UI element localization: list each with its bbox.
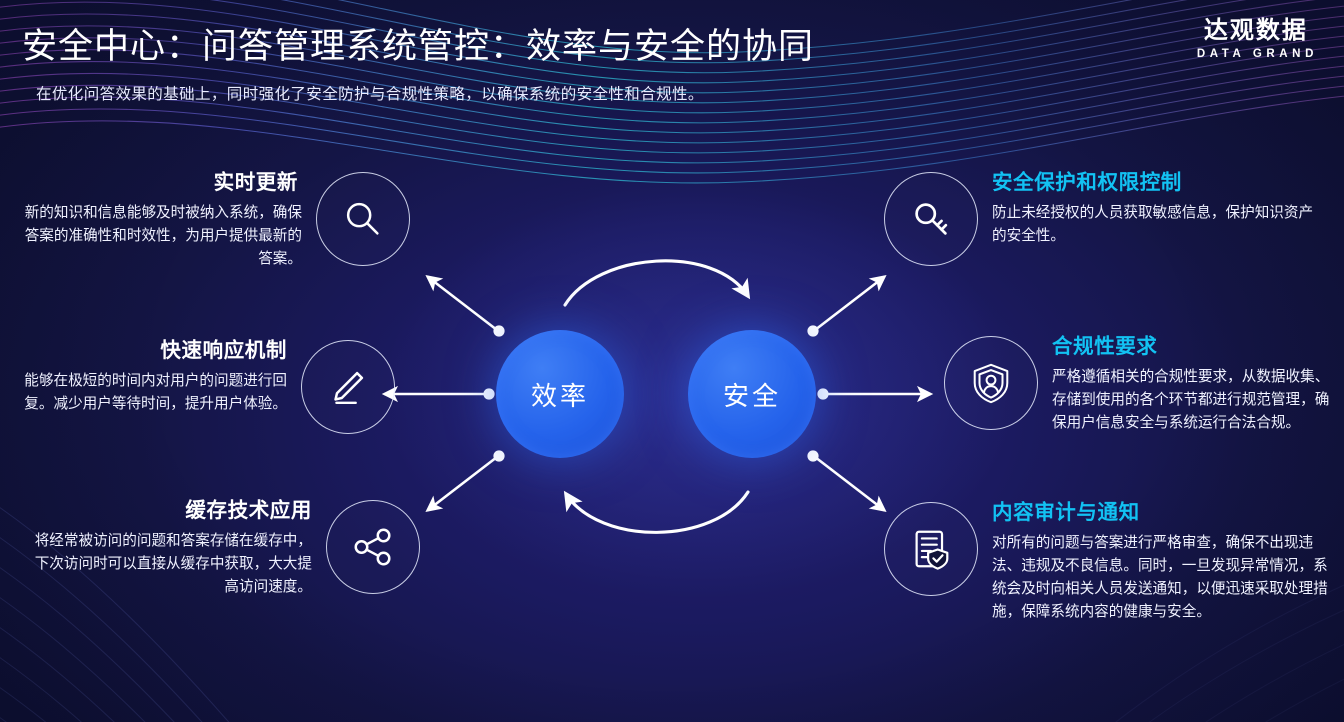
feature-description: 将经常被访问的问题和答案存储在缓存中，下次访问时可以直接从缓存中获取，大大提高访… xyxy=(22,530,312,599)
key-icon xyxy=(908,196,954,242)
icon-ring-compliance xyxy=(944,336,1038,430)
icon-ring-security-permission xyxy=(884,172,978,266)
feature-title: 实时更新 xyxy=(214,172,302,195)
feature-title: 内容审计与通知 xyxy=(992,502,1140,525)
feature-description: 防止未经授权的人员获取敏感信息，保护知识资产的安全性。 xyxy=(992,202,1322,248)
feature-item-security-permission[interactable]: 安全保护和权限控制 防止未经授权的人员获取敏感信息，保护知识资产的安全性。 xyxy=(884,172,1334,266)
feature-item-compliance[interactable]: 合规性要求 严格遵循相关的合规性要求，从数据收集、存储到使用的各个环节都进行规范… xyxy=(944,336,1344,435)
feature-item-fast-response[interactable]: 快速响应机制 能够在极短的时间内对用户的问题进行回复。减少用户等待时间，提升用户… xyxy=(22,340,454,434)
feature-description: 新的知识和信息能够及时被纳入系统，确保答案的准确性和时效性，为用户提供最新的答案… xyxy=(22,202,302,271)
icon-ring-cache-technology xyxy=(326,500,420,594)
magnifier-icon xyxy=(340,196,386,242)
hub-efficiency[interactable]: 效率 xyxy=(496,330,624,458)
pencil-icon xyxy=(325,364,371,410)
share-nodes-icon xyxy=(350,524,396,570)
icon-ring-realtime-update xyxy=(316,172,410,266)
feature-title: 安全保护和权限控制 xyxy=(992,172,1182,195)
feature-description: 严格遵循相关的合规性要求，从数据收集、存储到使用的各个环节都进行规范管理，确保用… xyxy=(1052,366,1342,435)
feature-description: 对所有的问题与答案进行严格审查，确保不出现违法、违规及不良信息。同时，一旦发现异… xyxy=(992,532,1332,624)
feature-item-realtime-update[interactable]: 实时更新 新的知识和信息能够及时被纳入系统，确保答案的准确性和时效性，为用户提供… xyxy=(22,172,454,271)
feature-item-content-audit[interactable]: 内容审计与通知 对所有的问题与答案进行严格审查，确保不出现违法、违规及不良信息。… xyxy=(884,502,1344,624)
hub-security[interactable]: 安全 xyxy=(688,330,816,458)
feature-title: 合规性要求 xyxy=(1052,336,1158,359)
slide-root: 安全中心：问答管理系统管控：效率与安全的协同 在优化问答效果的基础上，同时强化了… xyxy=(0,0,1344,722)
document-shield-check-icon xyxy=(908,526,954,572)
hub-security-label: 安全 xyxy=(723,376,781,413)
hub-efficiency-label: 效率 xyxy=(531,376,589,413)
feature-item-cache-technology[interactable]: 缓存技术应用 将经常被访问的问题和答案存储在缓存中，下次访问时可以直接从缓存中获… xyxy=(22,500,454,599)
feature-description: 能够在极短的时间内对用户的问题进行回复。减少用户等待时间，提升用户体验。 xyxy=(22,370,287,416)
feature-title: 缓存技术应用 xyxy=(185,500,312,523)
feature-title: 快速响应机制 xyxy=(160,340,287,363)
relationship-diagram: 效率 安全 实时更新 新的知识和信息能够及时被纳入系统，确保答案的准确性和时效性… xyxy=(0,0,1344,722)
shield-user-icon xyxy=(968,360,1014,406)
icon-ring-fast-response xyxy=(301,340,395,434)
icon-ring-content-audit xyxy=(884,502,978,596)
